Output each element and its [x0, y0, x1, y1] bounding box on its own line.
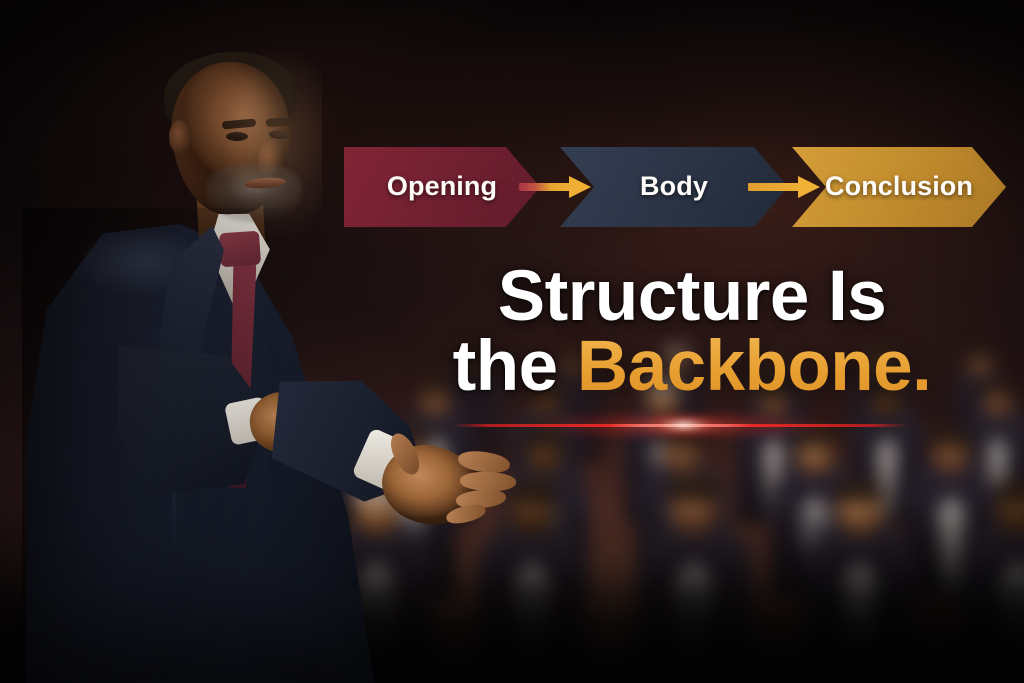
headline-underline-hotspot — [642, 414, 726, 436]
headline-accent-word: Backbone. — [577, 327, 932, 406]
arrow-right-icon — [519, 176, 591, 198]
process-step-conclusion[interactable]: Conclusion — [792, 147, 1006, 227]
process-step-opening[interactable]: Opening — [344, 147, 540, 227]
speaker-beard — [206, 164, 302, 222]
arrow-head — [798, 176, 820, 198]
speaker-eye — [226, 132, 248, 141]
headline-line-1: Structure Is — [498, 257, 887, 336]
slide-canvas: Opening Body Conclusion Structure Is the… — [0, 0, 1024, 683]
process-flow-graphic: Opening Body Conclusion — [344, 147, 1006, 227]
headline-line-2-plain: the — [453, 327, 577, 406]
speaker-ear — [169, 120, 191, 154]
process-step-body-label: Body — [640, 171, 708, 202]
speaker-photo — [22, 28, 452, 683]
process-step-conclusion-label: Conclusion — [825, 171, 973, 202]
speaker-eyebrow — [266, 117, 300, 127]
arrow-shaft — [748, 183, 800, 191]
speaker-eye — [269, 130, 291, 139]
process-step-opening-label: Opening — [387, 171, 497, 202]
arrow-right-icon — [748, 176, 820, 198]
arrow-shaft — [519, 183, 571, 191]
headline-line-2: the Backbone. — [452, 332, 932, 402]
slide-headline: Structure Is the Backbone. — [452, 262, 932, 401]
